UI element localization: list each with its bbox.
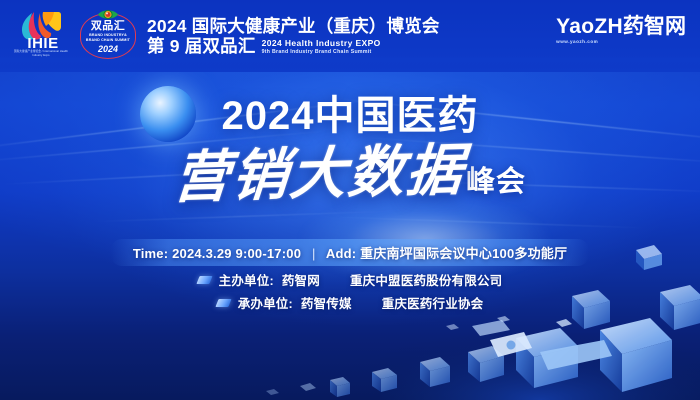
info-separator: | xyxy=(305,246,323,261)
logo-spoh-year: 2024 xyxy=(78,45,138,54)
event-info-bar: Time: 2024.3.29 9:00-17:00 | Add: 重庆南坪国际… xyxy=(111,239,589,266)
header-title-line2: 第 9 届双品汇 2024 Health Industry EXPO 9th B… xyxy=(147,37,440,56)
header-title-en2: 9th Brand Industry Brand Chain Summit xyxy=(262,49,381,55)
info-addr-value: 重庆南坪国际会议中心100多功能厅 xyxy=(360,246,567,261)
organizer-first: 药智传媒 xyxy=(301,293,352,312)
organizer-second: 重庆医药行业协会 xyxy=(382,293,484,312)
logo-spoh-en2: BRAND CHAIN SUMMIT xyxy=(78,38,138,43)
logo-spoh-cn: 双品汇 xyxy=(78,21,138,32)
logo-yaozh-latin: YaoZH xyxy=(556,15,623,38)
header-title-line1: 2024 国际大健康产业（重庆）博览会 xyxy=(147,16,440,37)
main-title-row: 营销大数据 峰会 xyxy=(0,146,700,202)
header-title-line2-cn: 第 9 届双品汇 xyxy=(147,37,256,56)
logo-yaozh-url: www.yaozh.com xyxy=(556,39,686,44)
header-title-block: 2024 国际大健康产业（重庆）博览会 第 9 届双品汇 2024 Health… xyxy=(147,16,440,56)
logo-yaozh[interactable]: YaoZH药智网 www.yaozh.com xyxy=(556,16,686,44)
organizer-label: 主办单位: xyxy=(219,270,274,289)
main-title-script: 营销大数据 xyxy=(171,142,466,206)
header-title-line2-en: 2024 Health Industry EXPO 9th Brand Indu… xyxy=(262,39,381,56)
header-title-en1: 2024 Health Industry EXPO xyxy=(262,39,381,49)
bullet-icon xyxy=(196,276,212,284)
main-title-top: 2024中国医药 xyxy=(0,96,700,136)
logo-ihie[interactable]: IHIE 国际大健康产业博览会 / International Health I… xyxy=(10,9,72,63)
logo-ihie-name: IHIE xyxy=(15,36,71,51)
organizer-label: 承办单位: xyxy=(238,293,293,312)
organizer-row: 主办单位: 药智网 重庆中盟医药股份有限公司 xyxy=(198,270,503,289)
event-poster: IHIE 国际大健康产业博览会 / International Health I… xyxy=(0,0,700,400)
logo-yaozh-cn: 药智网 xyxy=(623,15,686,38)
organizer-row: 承办单位: 药智传媒 重庆医药行业协会 xyxy=(217,293,484,312)
organizer-second: 重庆中盟医药股份有限公司 xyxy=(350,270,502,289)
logo-shuangpinhui[interactable]: 双品汇 BRAND INDUSTRY& BRAND CHAIN SUMMIT 2… xyxy=(78,7,138,65)
info-addr-label: Add: xyxy=(326,246,356,261)
header-row: IHIE 国际大健康产业博览会 / International Health I… xyxy=(0,0,700,72)
main-title-tail: 峰会 xyxy=(466,168,526,202)
logo-ihie-sub: 国际大健康产业博览会 / International Health Indust… xyxy=(10,50,72,58)
logo-spoh-en: BRAND INDUSTRY& BRAND CHAIN SUMMIT xyxy=(78,33,138,43)
logo-yaozh-main: YaoZH药智网 xyxy=(556,16,686,37)
info-time-label: Time: xyxy=(133,246,168,261)
organizer-list: 主办单位: 药智网 重庆中盟医药股份有限公司 承办单位: 药智传媒 重庆医药行业… xyxy=(0,270,700,312)
bullet-icon xyxy=(215,299,231,307)
organizer-first: 药智网 xyxy=(282,270,320,289)
info-time-value: 2024.3.29 9:00-17:00 xyxy=(172,246,301,261)
